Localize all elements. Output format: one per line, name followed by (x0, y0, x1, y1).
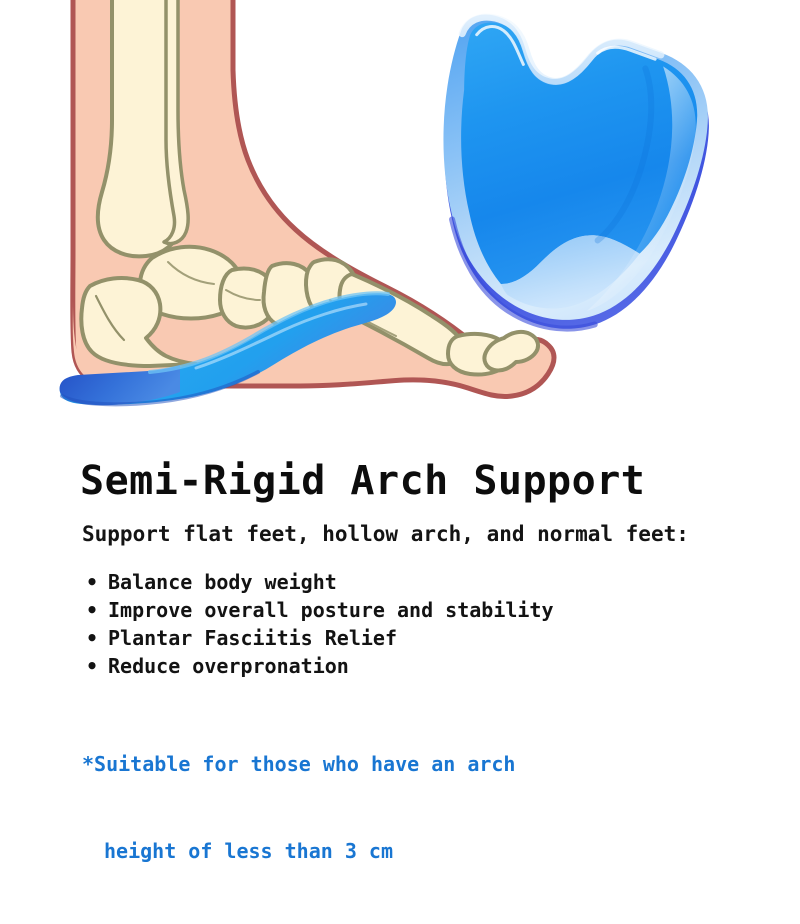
copy-block: Semi-Rigid Arch Support Support flat fee… (0, 440, 800, 800)
subtitle: Support flat feet, hollow arch, and norm… (82, 522, 689, 546)
gel-arch-support-insole (376, 0, 737, 360)
suitability-note: *Suitable for those who have an arch hei… (82, 692, 515, 924)
bullet-icon: • (86, 596, 98, 624)
list-item-label: Balance body weight (108, 570, 337, 594)
suitability-note-line-1: *Suitable for those who have an arch (82, 750, 515, 779)
list-item-label: Reduce overpronation (108, 654, 349, 678)
bullet-icon: • (86, 652, 98, 680)
list-item: • Improve overall posture and stability (82, 596, 554, 624)
suitability-note-line-2: height of less than 3 cm (82, 837, 515, 866)
list-item-label: Improve overall posture and stability (108, 598, 554, 622)
list-item: • Balance body weight (82, 568, 554, 596)
bullet-icon: • (86, 624, 98, 652)
list-item: • Plantar Fasciitis Relief (82, 624, 554, 652)
illustration-area (0, 0, 800, 440)
bullet-icon: • (86, 568, 98, 596)
benefit-list: • Balance body weight • Improve overall … (82, 568, 554, 680)
list-item-label: Plantar Fasciitis Relief (108, 626, 397, 650)
page-title: Semi-Rigid Arch Support (80, 458, 645, 504)
foot-and-insole-illustration (0, 0, 800, 440)
product-infographic: Semi-Rigid Arch Support Support flat fee… (0, 0, 800, 800)
list-item: • Reduce overpronation (82, 652, 554, 680)
